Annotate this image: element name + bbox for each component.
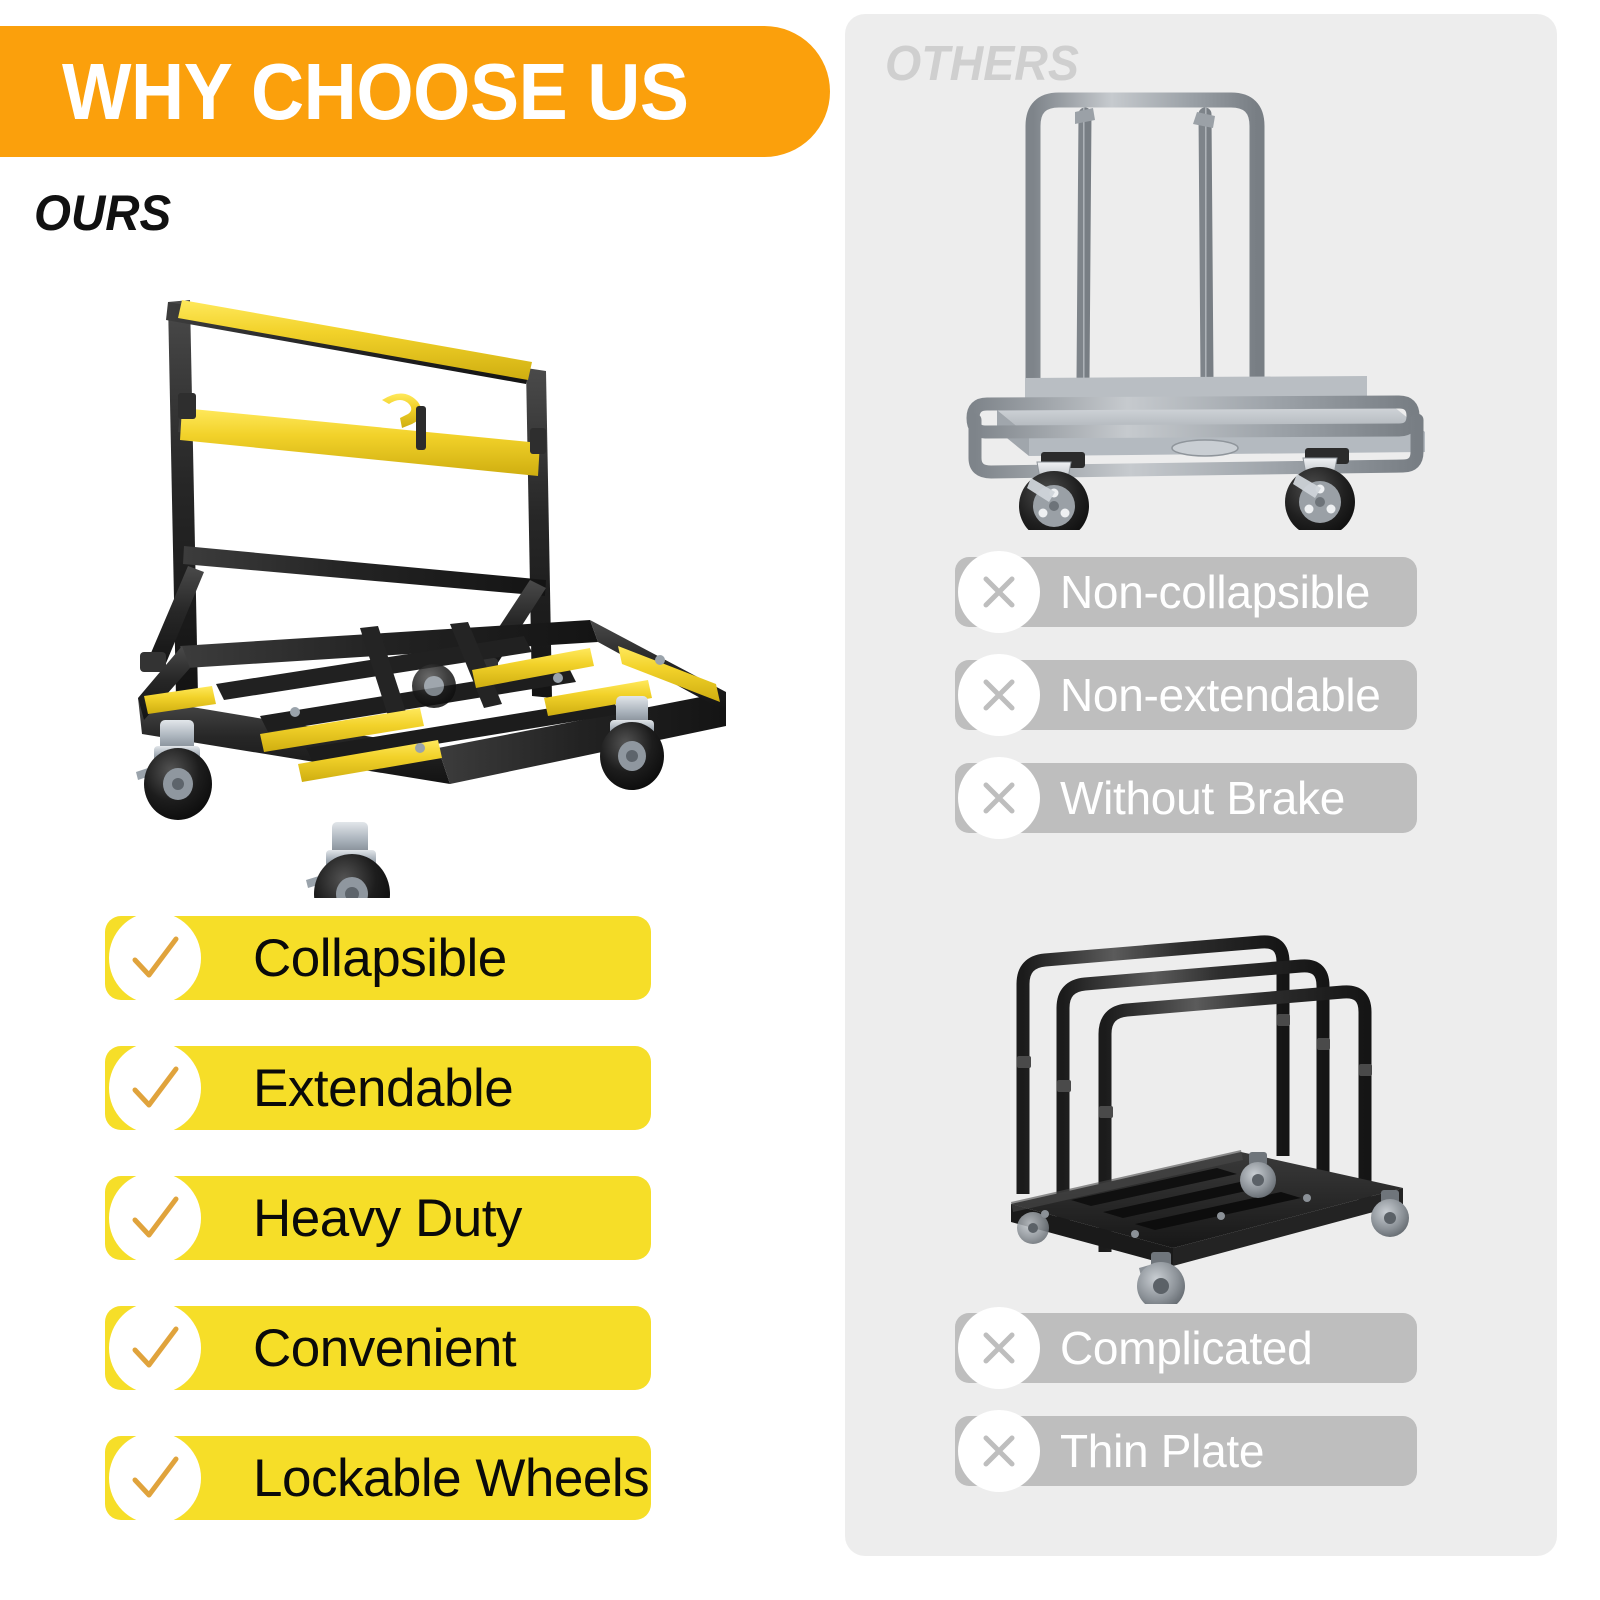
feature-pill-convenient[interactable]: Convenient [105,1306,651,1390]
drawback-label: Thin Plate [1060,1424,1264,1478]
check-icon [109,1302,201,1394]
feature-label: Convenient [253,1318,516,1379]
drawback-pill-without-brake[interactable]: Without Brake [955,763,1417,833]
banner-title: WHY CHOOSE US [62,46,689,138]
feature-label: Heavy Duty [253,1188,522,1249]
drawback-pill-thin-plate[interactable]: Thin Plate [955,1416,1417,1486]
feature-label: Collapsible [253,928,507,989]
ours-feature-list: Collapsible Extendable Heavy Duty Conven… [105,916,651,1566]
check-icon [109,1432,201,1524]
drawback-label: Non-collapsible [1060,565,1370,619]
x-icon [958,1410,1040,1492]
feature-pill-collapsible[interactable]: Collapsible [105,916,651,1000]
check-icon [109,1172,201,1264]
check-icon [109,912,201,1004]
drawback-label: Without Brake [1060,771,1345,825]
others-top-product-image [955,80,1455,530]
drawback-label: Complicated [1060,1321,1312,1375]
feature-pill-heavy-duty[interactable]: Heavy Duty [105,1176,651,1260]
ours-product-image [120,228,740,898]
x-icon [958,654,1040,736]
others-panel: OTHERS [845,14,1557,1556]
feature-pill-lockable-wheels[interactable]: Lockable Wheels [105,1436,651,1520]
x-icon [958,551,1040,633]
others-top-drawback-list: Non-collapsible Non-extendable Without B… [955,557,1417,866]
others-bottom-product-image [985,904,1435,1304]
drawback-pill-non-extendable[interactable]: Non-extendable [955,660,1417,730]
drawback-pill-non-collapsible[interactable]: Non-collapsible [955,557,1417,627]
feature-label: Lockable Wheels [253,1448,649,1509]
drawback-pill-complicated[interactable]: Complicated [955,1313,1417,1383]
others-bottom-drawback-list: Complicated Thin Plate [955,1313,1417,1519]
x-icon [958,1307,1040,1389]
feature-label: Extendable [253,1058,513,1119]
x-icon [958,757,1040,839]
drawback-label: Non-extendable [1060,668,1381,722]
feature-pill-extendable[interactable]: Extendable [105,1046,651,1130]
why-choose-us-banner: WHY CHOOSE US [0,26,830,157]
check-icon [109,1042,201,1134]
